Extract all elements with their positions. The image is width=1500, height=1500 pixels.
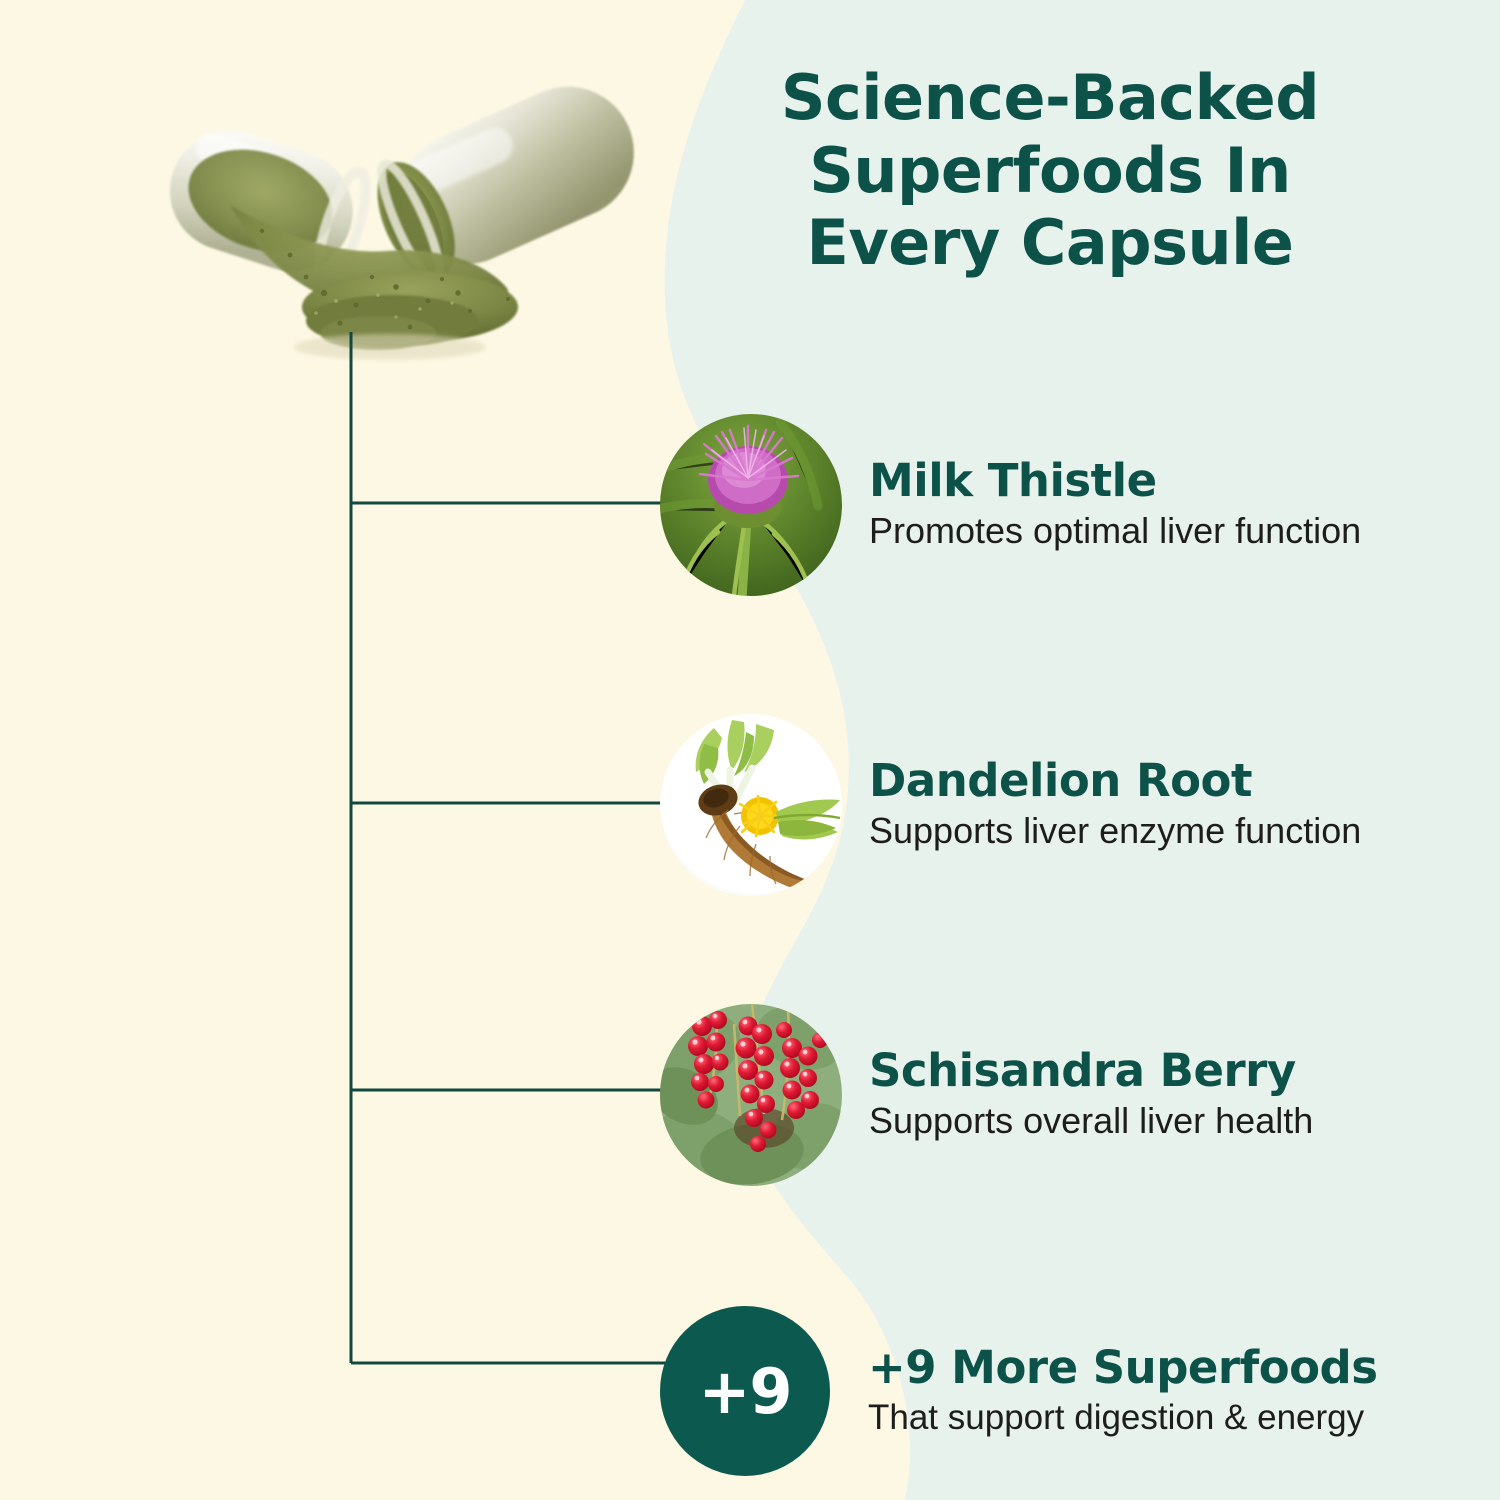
- ingredient-name: Schisandra Berry: [869, 1047, 1313, 1096]
- page-title: Science-Backed Superfoods In Every Capsu…: [700, 62, 1400, 280]
- ingredient-name: +9 More Superfoods: [868, 1344, 1378, 1393]
- ingredient-description: Supports liver enzyme function: [869, 810, 1361, 852]
- superfoods-infographic: Science-Backed Superfoods In Every Capsu…: [0, 0, 1500, 1500]
- ingredient-row: +9 +9 More Superfoods That support diges…: [660, 1298, 1480, 1484]
- plus-nine-label: +9: [698, 1355, 791, 1428]
- plus-nine-badge: +9: [660, 1306, 830, 1476]
- ingredient-text: Dandelion Root Supports liver enzyme fun…: [869, 757, 1361, 852]
- ingredient-text: +9 More Superfoods That support digestio…: [868, 1344, 1378, 1438]
- headline-line-2: Superfoods In: [700, 135, 1400, 208]
- ingredient-name: Milk Thistle: [869, 457, 1361, 506]
- ingredient-row: Schisandra Berry Supports overall liver …: [660, 1002, 1480, 1188]
- ingredient-row: Dandelion Root Supports liver enzyme fun…: [660, 712, 1480, 898]
- ingredient-description: Promotes optimal liver function: [869, 510, 1361, 552]
- headline-line-3: Every Capsule: [700, 207, 1400, 280]
- ingredient-text: Schisandra Berry Supports overall liver …: [869, 1047, 1313, 1142]
- ingredient-text: Milk Thistle Promotes optimal liver func…: [869, 457, 1361, 552]
- ingredient-name: Dandelion Root: [869, 757, 1361, 806]
- schisandra-berry-photo: [660, 1004, 842, 1186]
- ingredient-description: Supports overall liver health: [869, 1100, 1313, 1142]
- headline-line-1: Science-Backed: [700, 62, 1400, 135]
- ingredient-description: That support digestion & energy: [868, 1397, 1378, 1438]
- milk-thistle-photo: [660, 414, 842, 596]
- ingredient-row: Milk Thistle Promotes optimal liver func…: [660, 412, 1480, 598]
- dandelion-root-photo: [660, 714, 842, 896]
